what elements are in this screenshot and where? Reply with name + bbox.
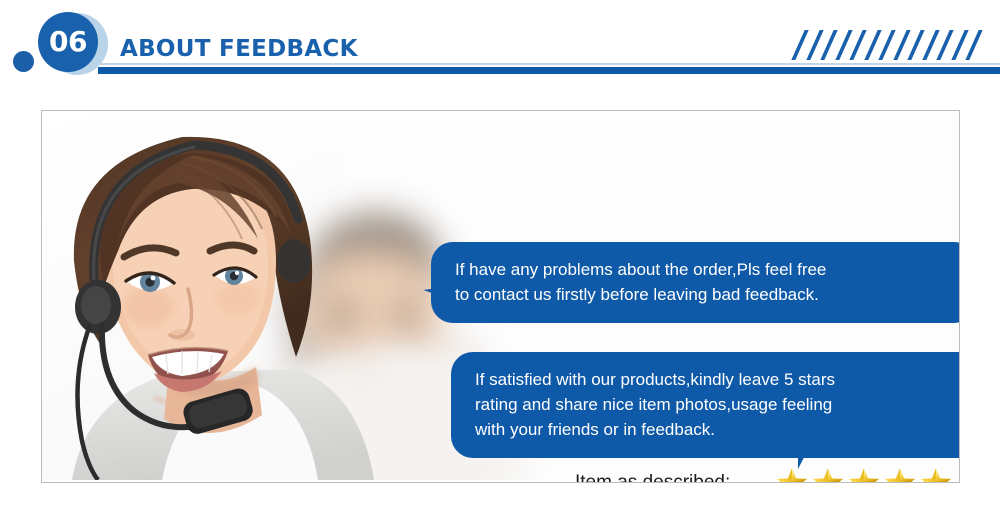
slash-icon [820,30,837,60]
star-icon [883,466,917,483]
feedback-bubble-1: If have any problems about the order,Pls… [431,242,960,323]
star-icon [811,466,845,483]
header-badge-circle: 06 [38,12,98,72]
header-divider-thick [98,67,1000,74]
header-divider-thin [98,63,1000,65]
star-rating-item-as-described [775,466,953,483]
feedback-bubble-1-text: If have any problems about the order,Pls… [455,257,952,307]
header-accent-dot [13,51,34,72]
slash-icon [849,30,866,60]
feedback-bubble-2-text: If satisfied with our products,kindly le… [475,367,957,442]
slash-icon [806,30,823,60]
slash-icon [791,30,808,60]
slash-icon [878,30,895,60]
star-icon [919,466,953,483]
slash-icon [936,30,953,60]
header-slash-decoration [798,30,988,62]
slash-icon [864,30,881,60]
slash-icon [965,30,982,60]
slash-icon [951,30,968,60]
slash-icon [893,30,910,60]
slash-icon [922,30,939,60]
star-icon [847,466,881,483]
rating-list: Item as described: Communication: Shippi… [575,463,960,483]
feedback-panel: If have any problems about the order,Pls… [41,110,960,483]
page-title: ABOUT FEEDBACK [120,36,358,62]
star-icon [775,466,809,483]
rating-row: Item as described: [575,463,960,483]
slash-icon [907,30,924,60]
header-badge-number: 06 [49,28,87,56]
slash-icon [835,30,852,60]
feedback-bubble-2: If satisfied with our products,kindly le… [451,352,960,458]
page-header: 06 ABOUT FEEDBACK [0,0,1000,95]
rating-label-item-as-described: Item as described: [575,472,775,483]
